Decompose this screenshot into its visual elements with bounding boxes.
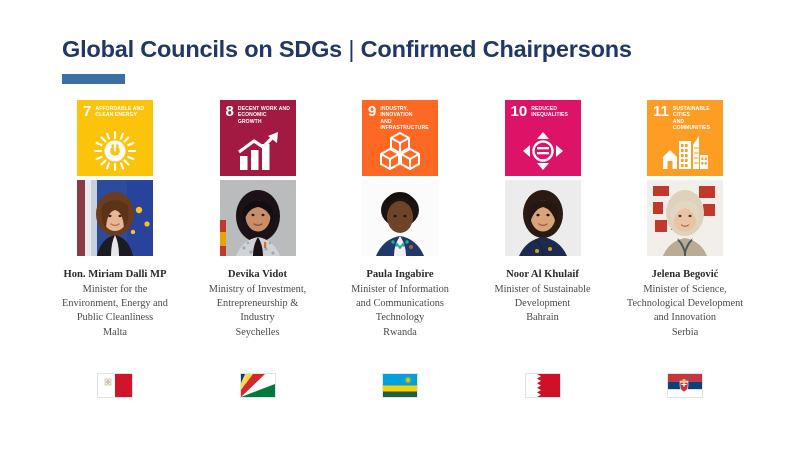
- sdg-tile-header: 10 REDUCED INEQUALITIES: [505, 100, 581, 119]
- portrait-noor-al-khulaif: [505, 180, 581, 256]
- title-accent-bar: [62, 74, 125, 84]
- chairpersons-row: 7 AFFORDABLE AND CLEAN ENERGY: [50, 100, 750, 400]
- chairperson-role-line: and Innovation: [627, 311, 743, 325]
- sdg-label: DECENT WORK AND ECONOMIC GROWTH: [238, 106, 291, 125]
- chairperson-country: Rwanda: [351, 326, 449, 340]
- chairperson-role-line: Technological Development: [627, 297, 743, 311]
- chairperson-role-line: Development: [494, 297, 590, 311]
- flag-cell: [620, 374, 750, 397]
- portrait-devika-vidot: [220, 180, 296, 256]
- chairperson-name: Paula Ingabire: [351, 268, 449, 282]
- sdg-tile-7: 7 AFFORDABLE AND CLEAN ENERGY: [77, 100, 153, 176]
- page-title-separator: |: [348, 36, 354, 62]
- growth-chart-icon: [220, 128, 296, 174]
- chairperson-role-line: Technology: [351, 311, 449, 325]
- sdg-tile-header: 9 INDUSTRY, INNOVATION AND INFRASTRUCTUR…: [362, 100, 438, 131]
- chairperson-country: Malta: [62, 326, 168, 340]
- chairperson-country: Seychelles: [209, 326, 307, 340]
- flag-cell: [50, 374, 180, 397]
- portrait-miriam-dalli: [77, 180, 153, 256]
- sdg-label-line2: ECONOMIC GROWTH: [238, 112, 291, 125]
- chairperson-card: 11 SUSTAINABLE CITIES AND COMMUNITIES: [620, 100, 750, 340]
- chairperson-card: 9 INDUSTRY, INNOVATION AND INFRASTRUCTUR…: [335, 100, 465, 340]
- cubes-icon: [362, 128, 438, 174]
- slide-canvas: Global Councils on SDGs | Confirmed Chai…: [0, 0, 800, 450]
- chairperson-role-line: Minister for the: [62, 283, 168, 297]
- sdg-number: 10: [511, 106, 528, 118]
- chairperson-role-line: and Communications: [351, 297, 449, 311]
- chairperson-country: Serbia: [627, 326, 743, 340]
- sdg-tile-11: 11 SUSTAINABLE CITIES AND COMMUNITIES: [647, 100, 723, 176]
- bahrain-flag: [526, 374, 560, 397]
- chairperson-caption: Jelena Begović Minister of Science, Tech…: [627, 268, 743, 340]
- chairperson-role-line: Environment, Energy and: [62, 297, 168, 311]
- sdg-label-line2: CLEAN ENERGY: [95, 112, 144, 118]
- chairperson-role-line: Industry: [209, 311, 307, 325]
- page-title: Global Councils on SDGs | Confirmed Chai…: [62, 36, 632, 63]
- chairperson-role-line: Ministry of Investment,: [209, 283, 307, 297]
- chairperson-caption: Noor Al Khulaif Minister of Sustainable …: [494, 268, 590, 326]
- portrait-jelena-begovic: [647, 180, 723, 256]
- sdg-tile-header: 8 DECENT WORK AND ECONOMIC GROWTH: [220, 100, 296, 125]
- seychelles-flag: [241, 374, 275, 397]
- chairperson-name: Jelena Begović: [627, 268, 743, 282]
- sdg-tile-9: 9 INDUSTRY, INNOVATION AND INFRASTRUCTUR…: [362, 100, 438, 176]
- sdg-tile-10: 10 REDUCED INEQUALITIES: [505, 100, 581, 176]
- chairperson-role-line: Entrepreneurship &: [209, 297, 307, 311]
- chairperson-caption: Devika Vidot Ministry of Investment, Ent…: [209, 268, 307, 340]
- sdg-number: 11: [653, 106, 669, 118]
- page-title-sub: Confirmed Chairpersons: [361, 36, 632, 62]
- chairperson-card: 7 AFFORDABLE AND CLEAN ENERGY: [50, 100, 180, 340]
- chairperson-role-line: Minister of Information: [351, 283, 449, 297]
- chairperson-role-line: Minister of Science,: [627, 283, 743, 297]
- chairperson-name: Noor Al Khulaif: [494, 268, 590, 282]
- chairperson-caption: Hon. Miriam Dalli MP Minister for the En…: [62, 268, 168, 340]
- serbia-flag: [668, 374, 702, 397]
- equality-arrows-icon: [505, 128, 581, 174]
- sdg-number: 8: [226, 106, 234, 118]
- sdg-label-line1: INDUSTRY, INNOVATION: [380, 106, 433, 119]
- sdg-label-line2: INEQUALITIES: [531, 112, 568, 118]
- city-buildings-icon: [647, 128, 723, 174]
- country-flags-row: [50, 360, 750, 410]
- flag-cell: [335, 374, 465, 397]
- page-title-main: Global Councils on SDGs: [62, 36, 342, 62]
- sdg-label: REDUCED INEQUALITIES: [531, 106, 568, 119]
- flag-cell: [193, 374, 323, 397]
- sdg-number: 7: [83, 106, 91, 118]
- chairperson-name: Hon. Miriam Dalli MP: [62, 268, 168, 282]
- sdg-tile-header: 11 SUSTAINABLE CITIES AND COMMUNITIES: [647, 100, 723, 131]
- chairperson-card: 10 REDUCED INEQUALITIES: [478, 100, 608, 326]
- chairperson-name: Devika Vidot: [209, 268, 307, 282]
- sdg-number: 9: [368, 106, 376, 118]
- rwanda-flag: [383, 374, 417, 397]
- chairperson-role-line: Public Cleanliness: [62, 311, 168, 325]
- sdg-label: AFFORDABLE AND CLEAN ENERGY: [95, 106, 144, 119]
- chairperson-caption: Paula Ingabire Minister of Information a…: [351, 268, 449, 340]
- sdg-label-line1: SUSTAINABLE CITIES: [673, 106, 718, 119]
- malta-flag: [98, 374, 132, 397]
- chairperson-country: Bahrain: [494, 311, 590, 325]
- portrait-paula-ingabire: [362, 180, 438, 256]
- sdg-tile-header: 7 AFFORDABLE AND CLEAN ENERGY: [77, 100, 153, 119]
- flag-cell: [478, 374, 608, 397]
- chairperson-role-line: Minister of Sustainable: [494, 283, 590, 297]
- sun-power-icon: [77, 128, 153, 174]
- sdg-tile-8: 8 DECENT WORK AND ECONOMIC GROWTH: [220, 100, 296, 176]
- chairperson-card: 8 DECENT WORK AND ECONOMIC GROWTH: [193, 100, 323, 340]
